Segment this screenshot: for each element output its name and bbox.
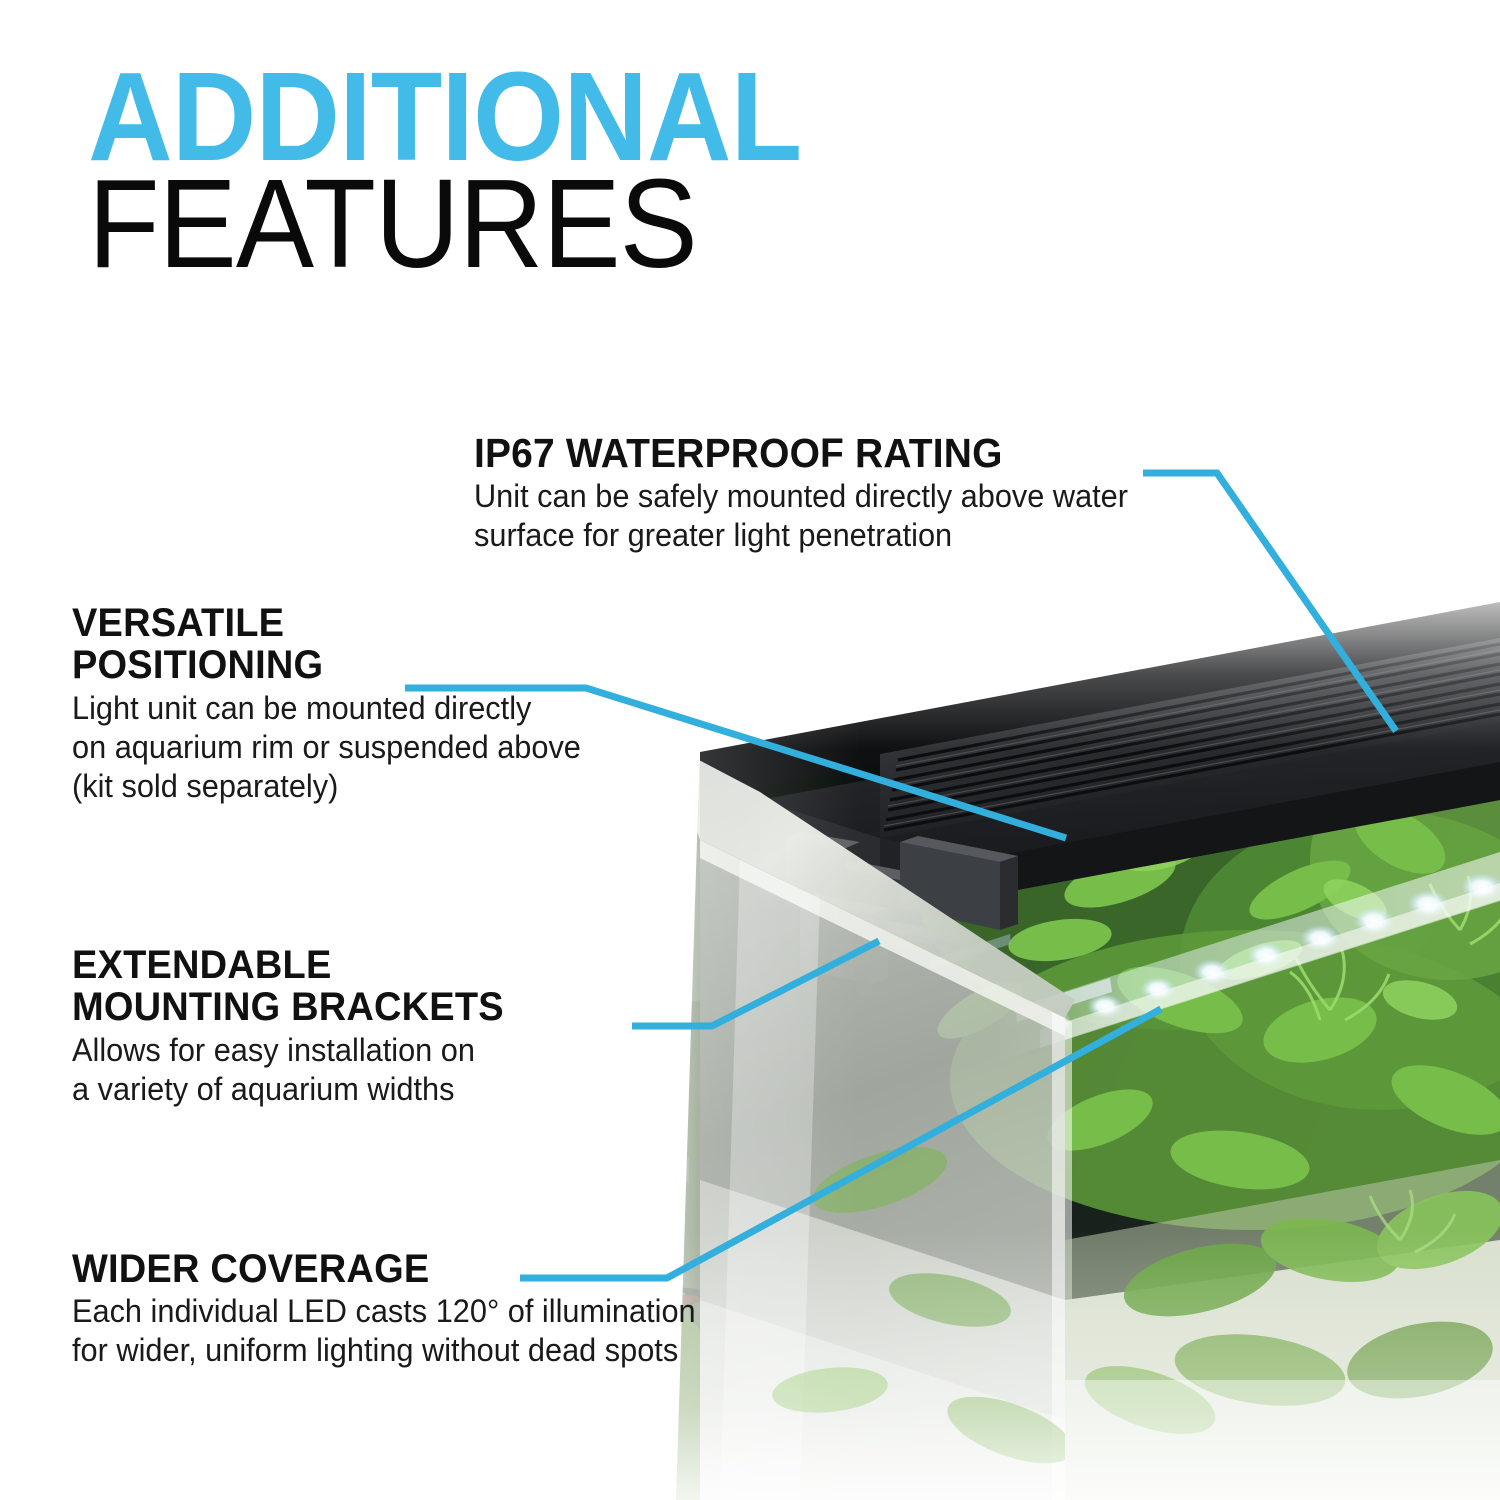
callout-brackets-body: Allows for easy installation on a variet… (72, 1031, 508, 1109)
callout-coverage-heading: WIDER COVERAGE (72, 1248, 689, 1290)
callout-brackets-heading: EXTENDABLE MOUNTING BRACKETS (72, 944, 504, 1029)
callout-ip67-body: Unit can be safely mounted directly abov… (474, 477, 1128, 555)
text-layer: ADDITIONAL FEATURES IP67 WATERPROOF RATI… (0, 0, 1500, 1500)
infographic-page: ADDITIONAL FEATURES IP67 WATERPROOF RATI… (0, 0, 1500, 1500)
callout-versatile-positioning: VERSATILE POSITIONING Light unit can be … (72, 602, 602, 806)
callout-versatile-heading: VERSATILE POSITIONING (72, 602, 576, 687)
callout-extendable-mounting-brackets: EXTENDABLE MOUNTING BRACKETS Allows for … (72, 944, 527, 1109)
callout-coverage-body: Each individual LED casts 120° of illumi… (72, 1292, 696, 1370)
page-title: ADDITIONAL FEATURES (88, 62, 855, 280)
callout-versatile-body: Light unit can be mounted directly on aq… (72, 689, 581, 806)
callout-ip67-waterproof-rating: IP67 WATERPROOF RATING Unit can be safel… (474, 432, 1155, 556)
callout-wider-coverage: WIDER COVERAGE Each individual LED casts… (72, 1248, 722, 1370)
page-title-line-2: FEATURES (88, 169, 801, 280)
callout-ip67-heading: IP67 WATERPROOF RATING (474, 432, 1121, 475)
